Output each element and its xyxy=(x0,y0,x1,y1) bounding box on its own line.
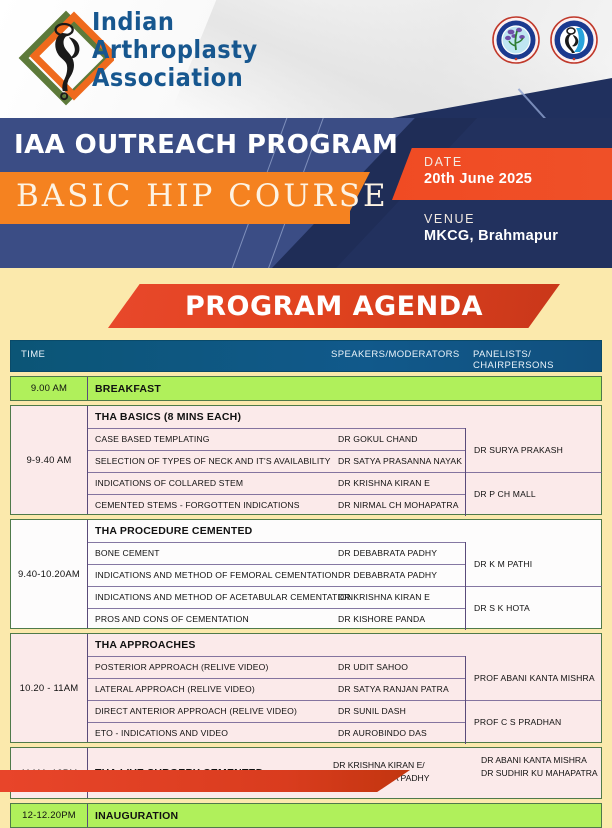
program-title: IAA OUTREACH PROGRAM xyxy=(14,130,398,160)
cell-section-title: BREAKFAST xyxy=(95,377,161,400)
panelist-divider xyxy=(466,586,602,587)
table-row: SELECTION OF TYPES OF NECK AND IT'S AVAI… xyxy=(88,450,465,472)
cell-panelist: DR P CH MALL xyxy=(466,472,602,516)
agenda-ribbon: PROGRAM AGENDA xyxy=(108,284,560,328)
cell-panelist: PROF C S PRADHAN xyxy=(466,700,602,744)
cell-panelist: DR SURYA PRAKASH xyxy=(466,428,602,472)
row-divider xyxy=(88,656,465,657)
cell-topic: POSTERIOR APPROACH (RELIVE VIDEO) xyxy=(95,662,269,672)
organization-name: Indian Arthroplasty Association xyxy=(92,8,258,92)
cell-topic: BONE CEMENT xyxy=(95,548,160,558)
panelist-name: PROF ABANI KANTA MISHRA xyxy=(466,672,595,684)
table-row: LATERAL APPROACH (RELIVE VIDEO)DR SATYA … xyxy=(88,678,465,700)
cell-speaker: DR DEBABRATA PADHY xyxy=(338,570,437,580)
cell-topic: PROS AND CONS OF CEMENTATION xyxy=(95,614,249,624)
cell-time: 10.20 - 11AM xyxy=(11,634,87,742)
agenda-table: TIME SPEAKERS/MODERATORS PANELISTS/ CHAI… xyxy=(10,340,602,828)
agenda-block: 10.20 - 11AMTHA APPROACHESPOSTERIOR APPR… xyxy=(10,633,602,743)
cell-speaker: DR GOKUL CHAND xyxy=(338,434,418,444)
course-title: BASIC HIP COURSE xyxy=(16,178,389,214)
cell-topic: CEMENTED STEMS - FORGOTTEN INDICATIONS xyxy=(95,500,300,510)
table-row: POSTERIOR APPROACH (RELIVE VIDEO)DR UDIT… xyxy=(88,656,465,678)
cell-speaker: DR SUNIL DASH xyxy=(338,706,406,716)
date-value: 20th June 2025 xyxy=(424,171,532,187)
cell-speaker: DR UDIT SAHOO xyxy=(338,662,408,672)
date-panel: DATE 20th June 2025 xyxy=(392,148,612,200)
panelist-name: DR SURYA PRAKASH xyxy=(466,444,563,456)
agenda-block: 9.40-10.20AMTHA PROCEDURE CEMENTEDBONE C… xyxy=(10,519,602,629)
bottom-accent-bar xyxy=(0,770,410,792)
panelist-divider xyxy=(466,472,602,473)
column-header-time: TIME xyxy=(21,349,45,360)
cell-speaker: DR SATYA PRASANNA NAYAK xyxy=(338,456,462,466)
cell-topic: ETO - INDICATIONS AND VIDEO xyxy=(95,728,228,738)
venue-panel: VENUE MKCG, Brahmapur xyxy=(398,208,612,256)
cell-panelist: PROF ABANI KANTA MISHRA xyxy=(466,656,602,700)
cell-panelist: DR ABANI KANTA MISHRADR SUDHIR KU MAHAPA… xyxy=(481,754,598,780)
time-column-divider xyxy=(87,377,88,400)
cell-speaker: DR KRISHNA KIRAN E xyxy=(338,478,430,488)
cell-time: 12-12.20PM xyxy=(11,804,87,827)
agenda-block: 9.00 AMBREAKFAST xyxy=(10,376,602,401)
cell-topic: SELECTION OF TYPES OF NECK AND IT'S AVAI… xyxy=(95,456,331,466)
table-row: CEMENTED STEMS - FORGOTTEN INDICATIONSDR… xyxy=(88,494,465,516)
cell-section-title: THA PROCEDURE CEMENTED xyxy=(95,520,252,542)
cell-panelist: DR K M PATHI xyxy=(466,542,602,586)
cell-topic: LATERAL APPROACH (RELIVE VIDEO) xyxy=(95,684,255,694)
cell-speaker: DR NIRMAL CH MOHAPATRA xyxy=(338,500,459,510)
table-row: INDICATIONS AND METHOD OF ACETABULAR CEM… xyxy=(88,586,465,608)
cell-speaker: DR KRISHNA KIRAN E xyxy=(338,592,430,602)
table-row: ETO - INDICATIONS AND VIDEODR AUROBINDO … xyxy=(88,722,465,744)
panelist-name: PROF C S PRADHAN xyxy=(466,716,561,728)
venue-label: VENUE xyxy=(424,212,558,226)
table-header-row: TIME SPEAKERS/MODERATORS PANELISTS/ CHAI… xyxy=(10,340,602,372)
row-divider xyxy=(88,450,465,451)
cell-time: 9-9.40 AM xyxy=(11,406,87,514)
panelist-line: DR ABANI KANTA MISHRA xyxy=(481,754,598,767)
cell-speaker: DR DEBABRATA PADHY xyxy=(338,548,437,558)
page-header: Indian Arthroplasty Association xyxy=(0,0,612,118)
row-divider xyxy=(88,722,465,723)
arthroplasty-association-seal-icon xyxy=(550,16,598,64)
row-divider xyxy=(88,494,465,495)
table-body: 9.00 AMBREAKFAST9-9.40 AMTHA BASICS (8 M… xyxy=(10,376,602,828)
association-seals xyxy=(492,16,598,64)
org-name-line3: Association xyxy=(92,64,258,92)
column-header-panelists: PANELISTS/ CHAIRPERSONS xyxy=(473,349,601,371)
cell-time: 9.00 AM xyxy=(11,377,87,400)
row-divider xyxy=(88,428,465,429)
table-row: BONE CEMENTDR DEBABRATA PADHY xyxy=(88,542,465,564)
row-divider xyxy=(88,678,465,679)
row-divider xyxy=(88,608,465,609)
cell-topic: INDICATIONS OF COLLARED STEM xyxy=(95,478,243,488)
column-header-speakers: SPEAKERS/MODERATORS xyxy=(331,349,460,360)
cell-time: 9.40-10.20AM xyxy=(11,520,87,628)
row-divider xyxy=(88,586,465,587)
row-divider xyxy=(88,542,465,543)
panelist-line: DR SUDHIR KU MAHAPATRA xyxy=(481,767,598,780)
date-label: DATE xyxy=(424,155,532,169)
cell-topic: INDICATIONS AND METHOD OF ACETABULAR CEM… xyxy=(95,592,353,602)
panelist-name: DR K M PATHI xyxy=(466,558,532,570)
agenda-block: 9-9.40 AMTHA BASICS (8 MINS EACH)CASE BA… xyxy=(10,405,602,515)
time-column-divider xyxy=(87,804,88,827)
cell-speaker: DR KISHORE PANDA xyxy=(338,614,425,624)
cell-topic: INDICATIONS AND METHOD OF FEMORAL CEMENT… xyxy=(95,570,338,580)
panelist-name: DR S K HOTA xyxy=(466,602,530,614)
cell-section-title: INAUGURATION xyxy=(95,804,178,827)
table-row: CASE BASED TEMPLATINGDR GOKUL CHAND xyxy=(88,428,465,450)
orthopaedic-association-seal-icon xyxy=(492,16,540,64)
row-divider xyxy=(88,564,465,565)
table-row: DIRECT ANTERIOR APPROACH (RELIVE VIDEO)D… xyxy=(88,700,465,722)
panelist-name: DR P CH MALL xyxy=(466,488,536,500)
cell-speaker: DR SATYA RANJAN PATRA xyxy=(338,684,449,694)
row-divider xyxy=(88,700,465,701)
table-row: PROS AND CONS OF CEMENTATIONDR KISHORE P… xyxy=(88,608,465,630)
cell-speaker: DR AUROBINDO DAS xyxy=(338,728,427,738)
cell-section-title: THA APPROACHES xyxy=(95,634,196,656)
venue-value: MKCG, Brahmapur xyxy=(424,228,558,244)
table-row: INDICATIONS OF COLLARED STEMDR KRISHNA K… xyxy=(88,472,465,494)
agenda-block: 12-12.20PMINAUGURATION xyxy=(10,803,602,828)
cell-section-title: THA BASICS (8 MINS EACH) xyxy=(95,406,241,428)
cell-topic: CASE BASED TEMPLATING xyxy=(95,434,210,444)
table-row: INDICATIONS AND METHOD OF FEMORAL CEMENT… xyxy=(88,564,465,586)
agenda-ribbon-title: PROGRAM AGENDA xyxy=(185,291,483,322)
org-name-line1: Indian xyxy=(92,8,258,36)
row-divider xyxy=(88,472,465,473)
panelist-divider xyxy=(466,700,602,701)
org-name-line2: Arthroplasty xyxy=(92,36,258,64)
cell-panelist: DR S K HOTA xyxy=(466,586,602,630)
cell-topic: DIRECT ANTERIOR APPROACH (RELIVE VIDEO) xyxy=(95,706,297,716)
